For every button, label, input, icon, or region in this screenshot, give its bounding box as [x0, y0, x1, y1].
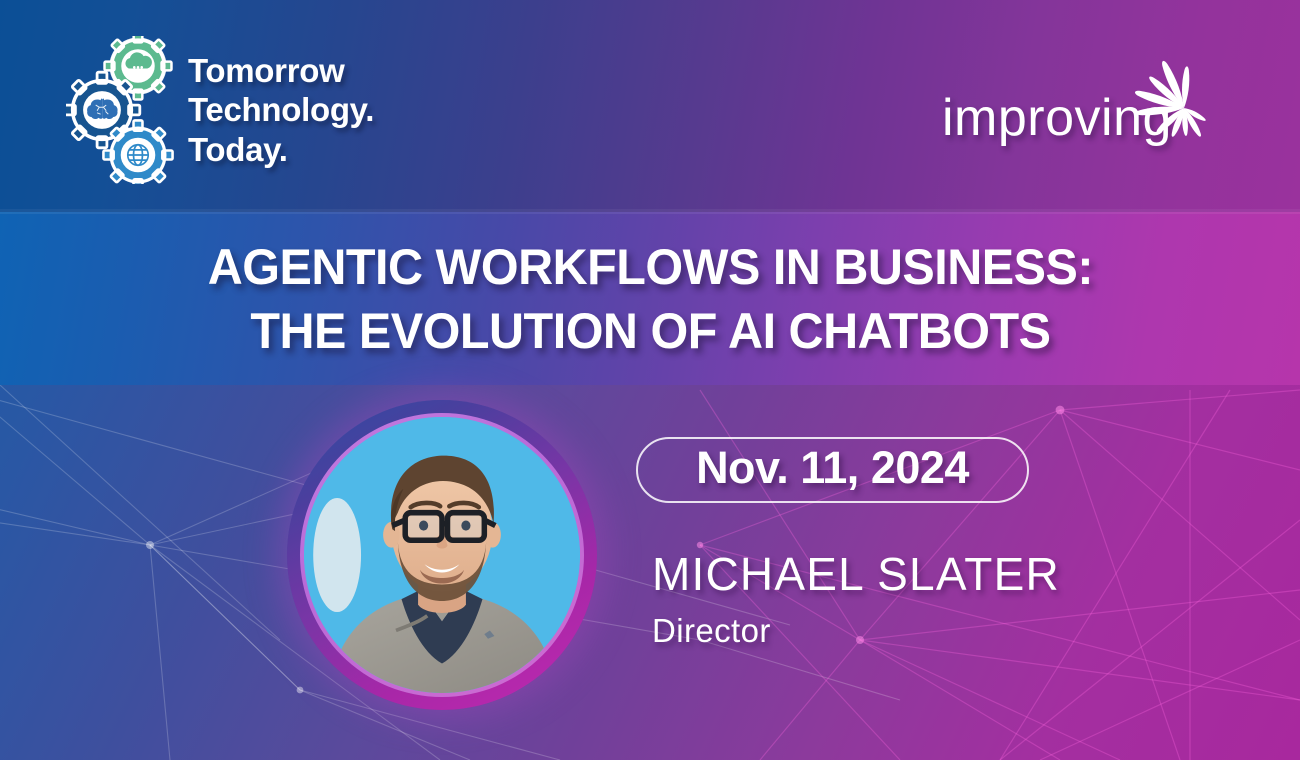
tagline-text: Tomorrow Technology. Today.: [188, 51, 374, 170]
speaker-role: Director: [652, 612, 1060, 650]
speaker-photo-frame: [287, 400, 597, 710]
speaker-photo: [304, 417, 580, 693]
title-line-1: AGENTIC WORKFLOWS IN BUSINESS:: [207, 235, 1092, 299]
title-band: AGENTIC WORKFLOWS IN BUSINESS: THE EVOLU…: [0, 212, 1300, 385]
improving-logo: improving: [942, 46, 1242, 156]
headshot-illustration: [304, 417, 580, 693]
speaker-info: MICHAEL SLATER Director: [652, 549, 1060, 650]
event-date-badge: Nov. 11, 2024: [636, 437, 1029, 503]
gears-icon: [66, 36, 174, 184]
title-line-2: THE EVOLUTION OF AI CHATBOTS: [250, 299, 1050, 363]
tagline-line-1: Tomorrow: [188, 51, 374, 91]
tomorrow-technology-today-logo: Tomorrow Technology. Today.: [66, 36, 374, 184]
tagline-line-2: Technology.: [188, 90, 374, 130]
starburst-icon: [1126, 46, 1236, 156]
photo-ring: [300, 413, 584, 697]
speaker-name: MICHAEL SLATER: [652, 549, 1060, 600]
event-date-text: Nov. 11, 2024: [696, 442, 969, 494]
gears-icon-group: [66, 36, 174, 184]
tagline-line-3: Today.: [188, 130, 374, 170]
webinar-promo-slide: Tomorrow Technology. Today. improving: [0, 0, 1300, 760]
